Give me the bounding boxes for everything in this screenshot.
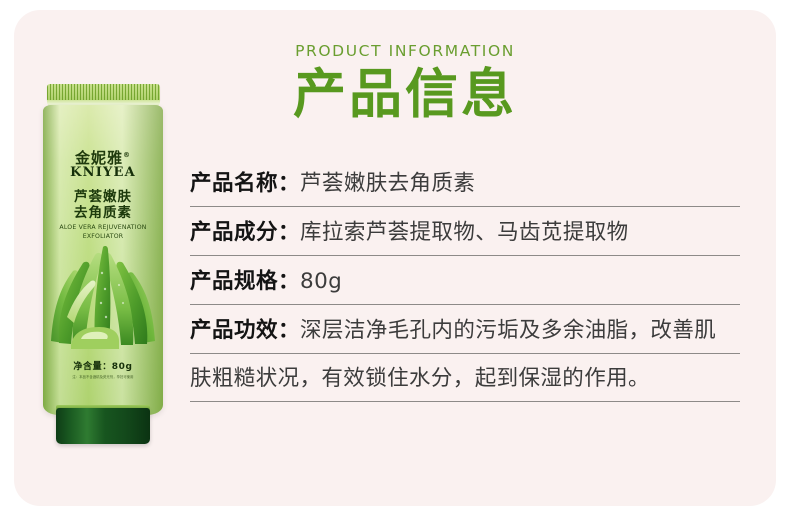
tube-brand-english: KNIYEA	[43, 165, 163, 180]
table-row-product-name: 产品名称：芦荟嫩肤去角质素	[190, 158, 740, 207]
table-row-efficacy: 产品功效：深层洁净毛孔内的污垢及多余油脂，改善肌	[190, 305, 740, 354]
efficacy-label: 产品功效：	[190, 318, 300, 343]
product-information-page: PRODUCT INFORMATION 产品信息 金妮雅® KNIYEA 芦荟嫩…	[0, 0, 790, 522]
tube-fine-print: 注：本品不含酒精及荧光剂，孕妇可使用	[55, 375, 151, 380]
product-tube-image: 金妮雅® KNIYEA 芦荟嫩肤 去角质素 ALOE VERA REJUVENA…	[40, 80, 166, 445]
tube-product-name-en-line1: ALOE VERA REJUVENATION	[43, 223, 163, 232]
product-info-list: 产品名称：芦荟嫩肤去角质素 产品成分：库拉索芦荟提取物、马齿苋提取物 产品规格：…	[190, 158, 740, 402]
tube-net-weight: 净含量：80g	[43, 361, 163, 373]
efficacy-value: 深层洁净毛孔内的污垢及多余油脂，改善肌	[300, 318, 716, 343]
info-line: 产品名称：芦荟嫩肤去角质素	[190, 158, 740, 199]
tube-body: 金妮雅® KNIYEA 芦荟嫩肤 去角质素 ALOE VERA REJUVENA…	[43, 105, 163, 415]
info-line: 产品规格：80g	[190, 256, 740, 297]
tube-product-name-en-line2: EXFOLIATOR	[43, 232, 163, 241]
table-row-efficacy-continued: 肤粗糙状况，有效锁住水分，起到保湿的作用。	[190, 354, 740, 402]
info-line: 肤粗糙状况，有效锁住水分，起到保湿的作用。	[190, 354, 740, 394]
page-title: 产品信息	[190, 64, 620, 126]
tube-brand-chinese: 金妮雅®	[43, 147, 163, 167]
product-name-label: 产品名称：	[190, 171, 300, 196]
tube-product-name-cn-line1: 芦荟嫩肤	[43, 189, 163, 205]
aloe-vera-illustration	[43, 245, 163, 355]
specification-label: 产品规格：	[190, 269, 300, 294]
header-english-title: PRODUCT INFORMATION	[190, 40, 620, 62]
registered-mark-icon: ®	[123, 151, 131, 159]
page-header: PRODUCT INFORMATION 产品信息	[190, 40, 620, 126]
product-name-value: 芦荟嫩肤去角质素	[300, 171, 475, 196]
tube-product-name-chinese: 芦荟嫩肤 去角质素	[43, 189, 163, 221]
info-line: 产品成分：库拉索芦荟提取物、马齿苋提取物	[190, 207, 740, 248]
tube-product-name-cn-line2: 去角质素	[43, 205, 163, 221]
efficacy-value-line2: 肤粗糙状况，有效锁住水分，起到保湿的作用。	[190, 366, 650, 391]
ingredients-value: 库拉索芦荟提取物、马齿苋提取物	[300, 220, 629, 245]
tube-product-name-english: ALOE VERA REJUVENATION EXFOLIATOR	[43, 223, 163, 241]
table-row-specification: 产品规格：80g	[190, 256, 740, 305]
info-line: 产品功效：深层洁净毛孔内的污垢及多余油脂，改善肌	[190, 305, 740, 346]
specification-value: 80g	[300, 269, 342, 294]
table-row-ingredients: 产品成分：库拉索芦荟提取物、马齿苋提取物	[190, 207, 740, 256]
tube-cap	[56, 408, 150, 444]
tube-crimp-seal	[47, 84, 160, 101]
ingredients-label: 产品成分：	[190, 220, 300, 245]
